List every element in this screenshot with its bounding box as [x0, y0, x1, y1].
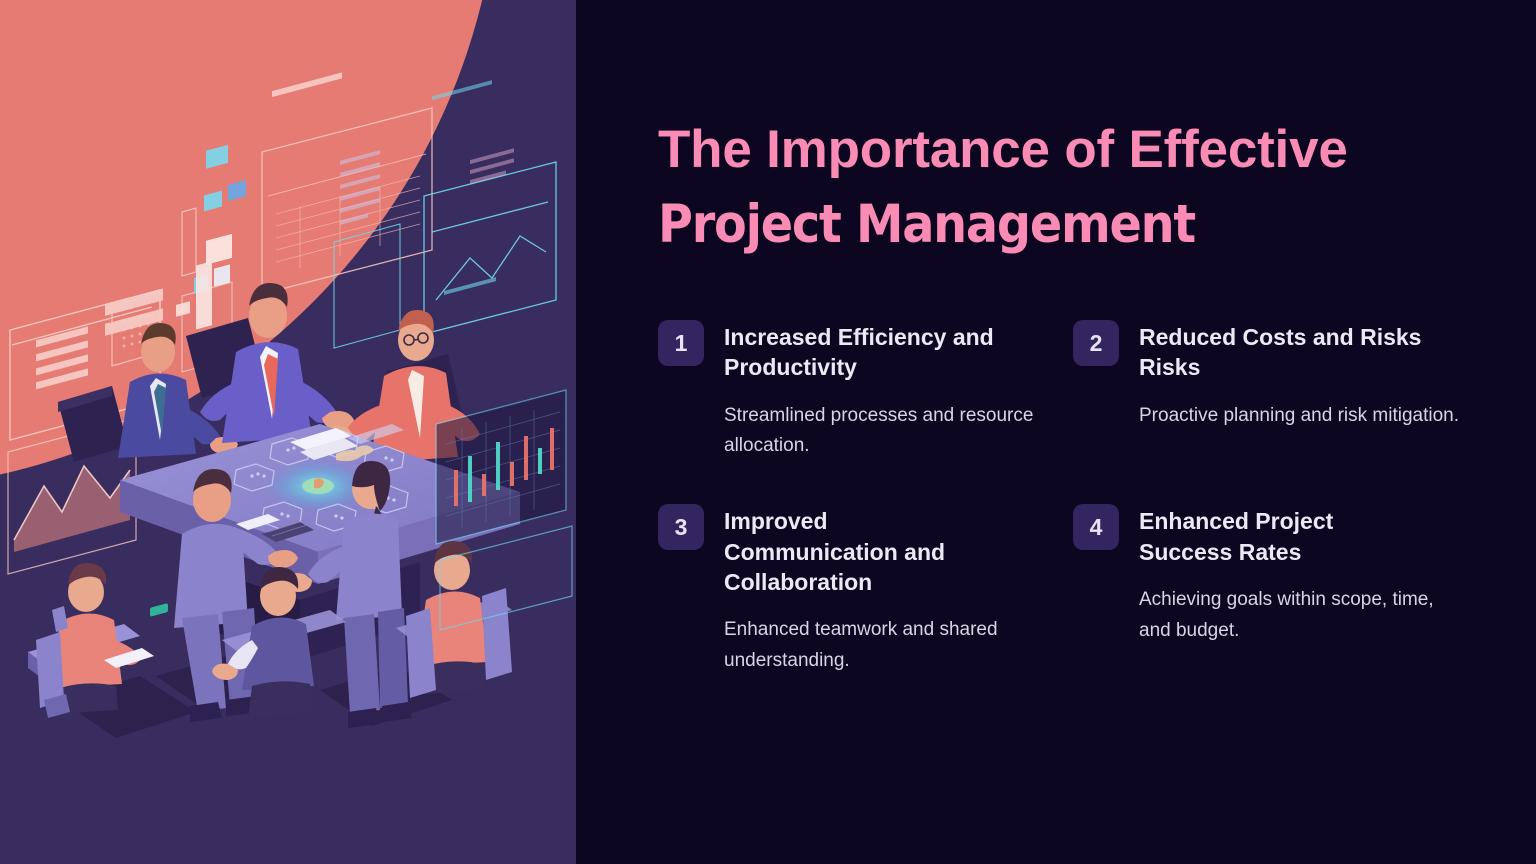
- benefit-item-2: 2 Reduced Costs and Risks Risks Proactiv…: [1073, 320, 1488, 462]
- benefit-heading-4-line-1: Enhanced Project: [1139, 508, 1333, 534]
- benefit-body-4: Achieving goals within scope, time, and …: [1139, 585, 1460, 647]
- benefit-heading-1: Increased Efficiency and Productivity: [724, 322, 1045, 383]
- badge-number-4: 4: [1073, 504, 1119, 550]
- benefit-heading-3-line-2: Communication and: [724, 539, 945, 565]
- benefit-heading-3-line-3: Collaboration: [724, 569, 872, 595]
- illustration-panel: [0, 0, 576, 864]
- benefit-heading-2-line-2: Risks: [1139, 354, 1200, 380]
- benefit-body-1: Streamlined processes and resource alloc…: [724, 401, 1045, 463]
- benefit-body-3: Enhanced teamwork and shared understandi…: [724, 615, 1045, 677]
- badge-number-2: 2: [1073, 320, 1119, 366]
- benefit-heading-1-line-1: Increased Efficiency and: [724, 324, 994, 350]
- benefit-item-4: 4 Enhanced Project Success Rates Achievi…: [1073, 504, 1488, 677]
- benefit-heading-4-line-2: Success Rates: [1139, 539, 1301, 565]
- benefit-heading-3: Improved Communication and Collaboration: [724, 506, 1045, 597]
- badge-number-3: 3: [658, 504, 704, 550]
- title-line-2: Project Management: [658, 187, 1458, 262]
- title-line-1: The Importance of Effective: [658, 112, 1458, 187]
- benefits-row-2: 3 Improved Communication and Collaborati…: [658, 504, 1488, 677]
- benefit-item-1: 1 Increased Efficiency and Productivity …: [658, 320, 1073, 462]
- slide: The Importance of Effective Project Mana…: [0, 0, 1536, 864]
- page-title: The Importance of Effective Project Mana…: [658, 112, 1458, 263]
- benefit-heading-1-line-2: Productivity: [724, 354, 857, 380]
- benefit-heading-2: Reduced Costs and Risks Risks: [1139, 322, 1459, 383]
- content-panel: The Importance of Effective Project Mana…: [576, 0, 1536, 864]
- benefits-grid: 1 Increased Efficiency and Productivity …: [658, 320, 1488, 677]
- benefit-heading-2-line-1: Reduced Costs and Risks: [1139, 324, 1421, 350]
- benefit-item-3: 3 Improved Communication and Collaborati…: [658, 504, 1073, 677]
- benefit-body-2: Proactive planning and risk mitigation.: [1139, 401, 1459, 432]
- benefit-heading-3-line-1: Improved: [724, 508, 828, 534]
- benefit-heading-4: Enhanced Project Success Rates: [1139, 506, 1460, 567]
- badge-number-1: 1: [658, 320, 704, 366]
- benefits-row-1: 1 Increased Efficiency and Productivity …: [658, 320, 1488, 462]
